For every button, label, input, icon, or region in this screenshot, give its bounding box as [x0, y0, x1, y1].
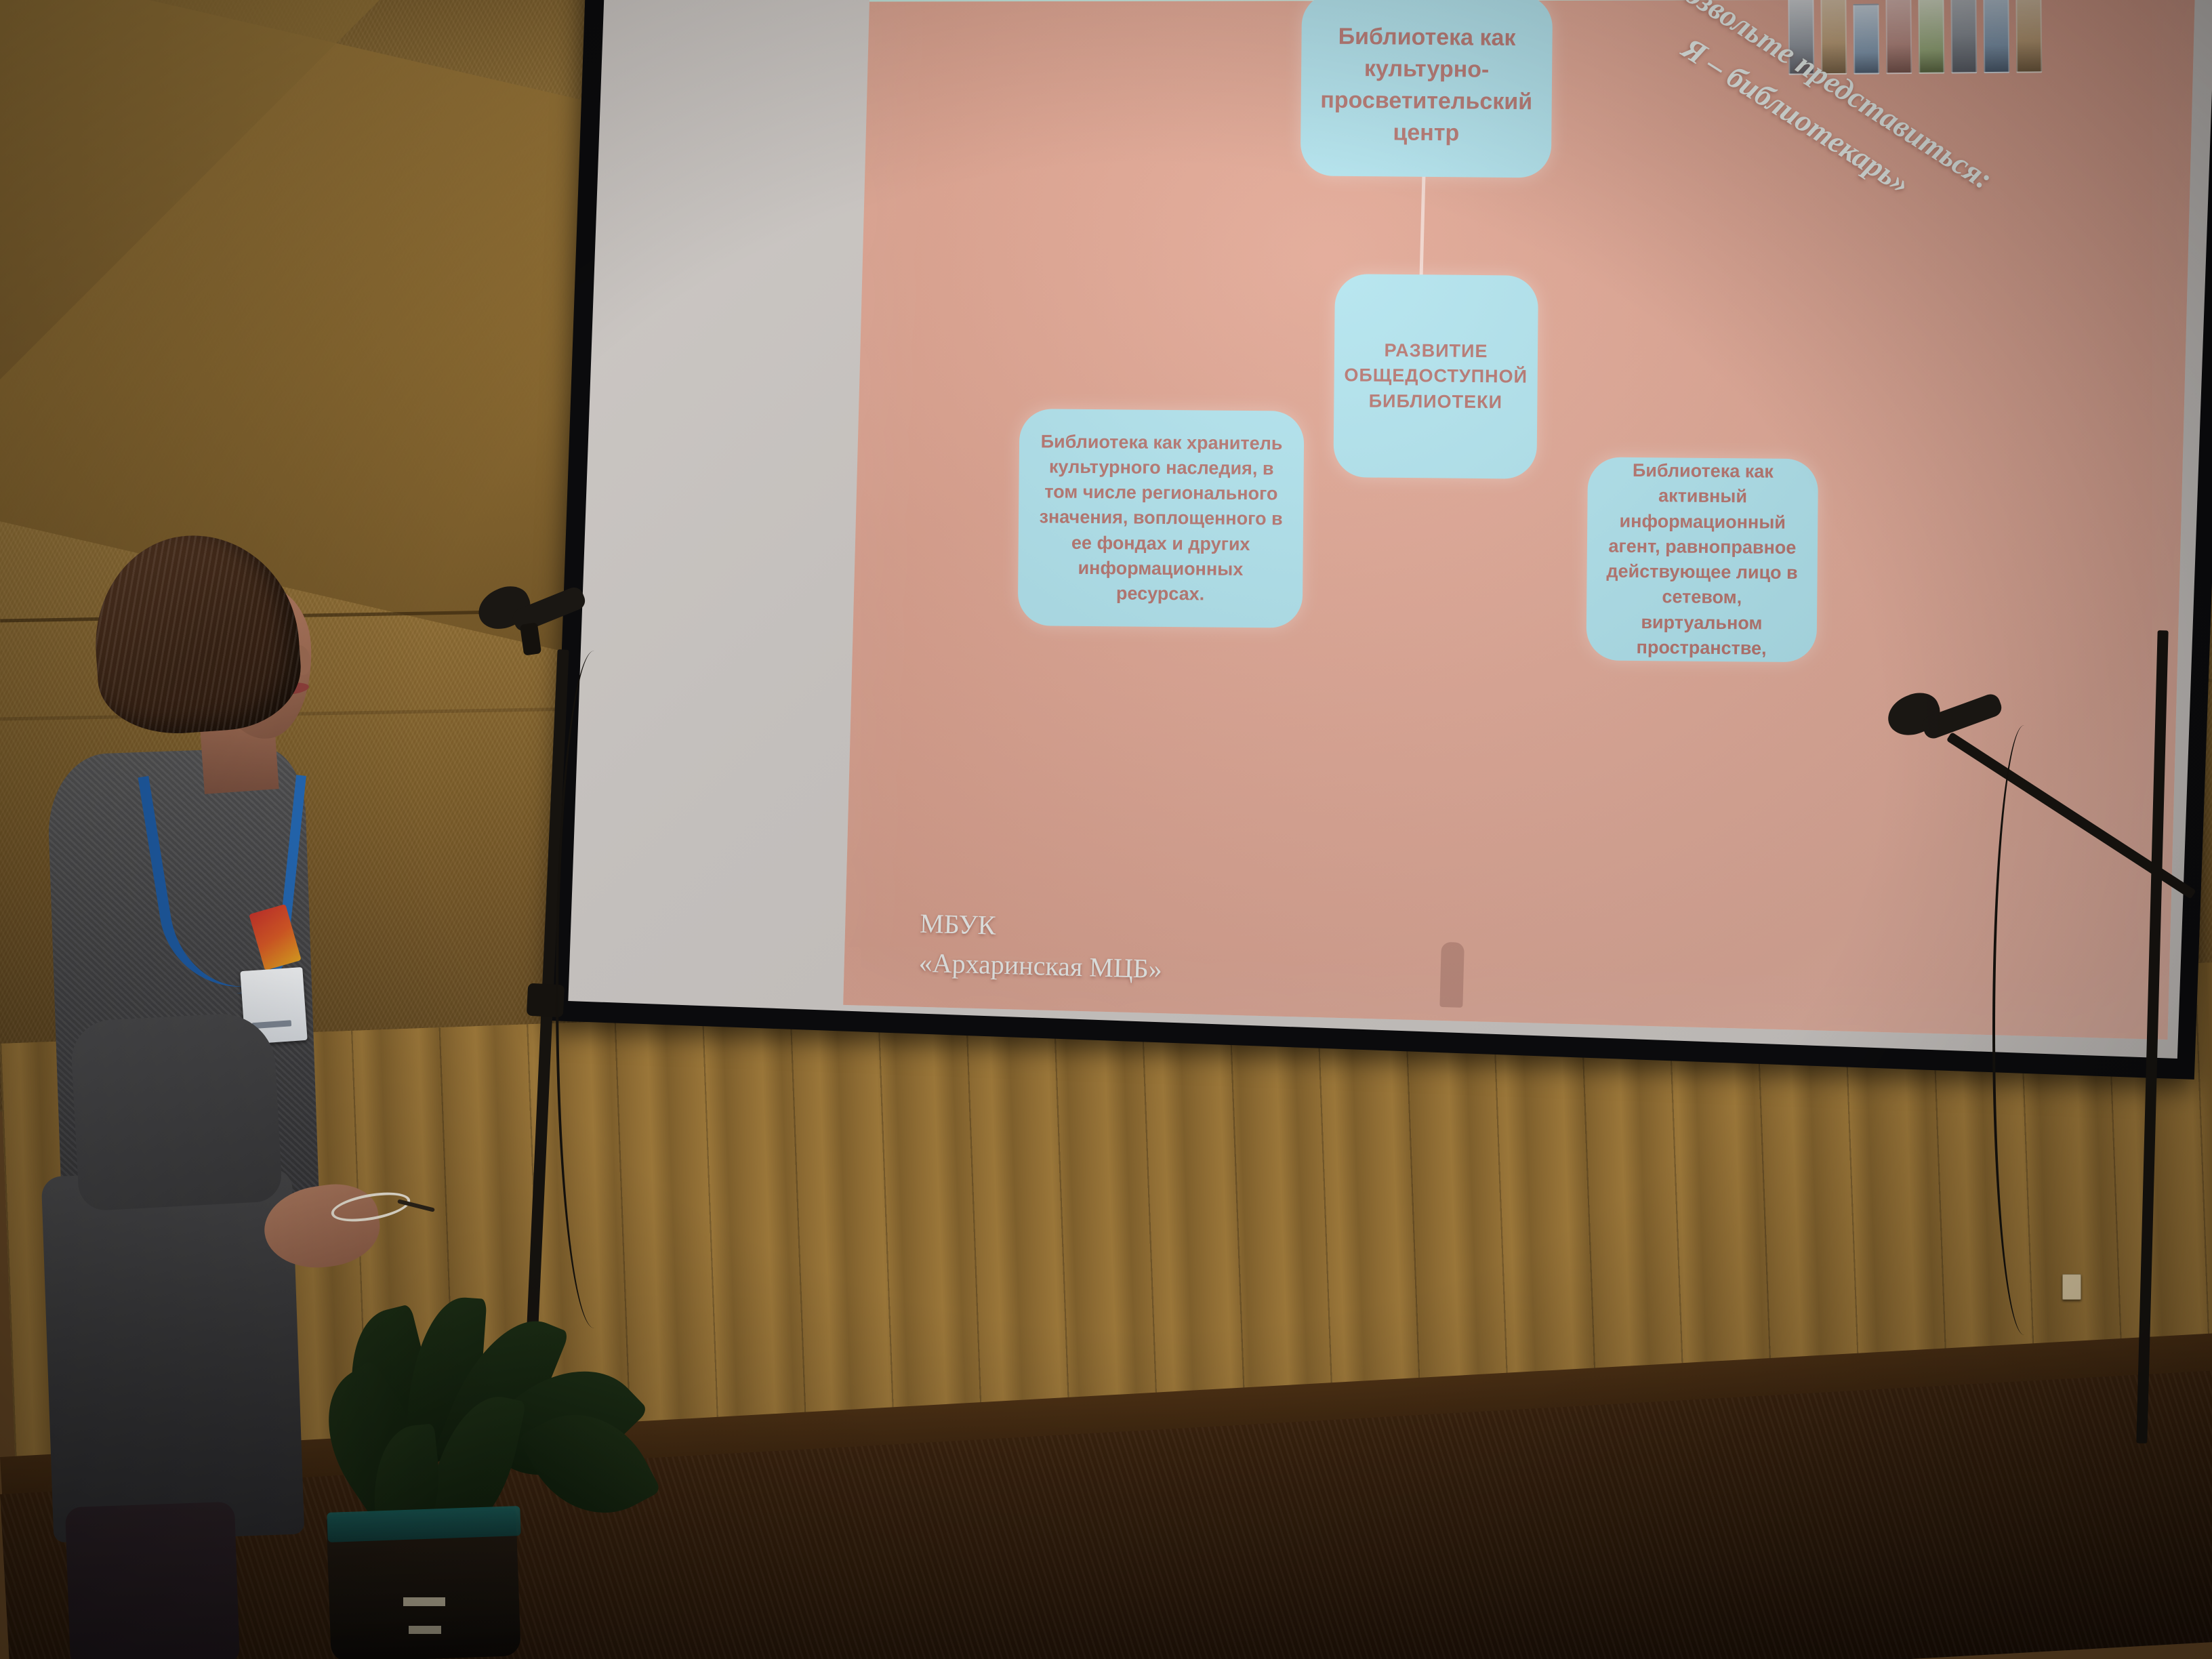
screen-surface: мои заслуги «Позвольте представиться: Я … — [568, 0, 2212, 1059]
flow-box-center: РАЗВИТИЕ ОБЩЕДОСТУПНОЙ БИБЛИОТЕКИ — [1333, 274, 1538, 479]
photograph-scene: мои заслуги «Позвольте представиться: Я … — [0, 0, 2212, 1659]
presenter-arm — [70, 1011, 283, 1211]
slide-footer-line-2: «Архаринская МЦБ» — [918, 943, 1162, 989]
projected-slide: мои заслуги «Позвольте представиться: Я … — [843, 0, 2196, 1040]
flow-box-left-label: Библиотека как хранитель культурного нас… — [1033, 429, 1289, 608]
slide-footer-line-1: МБУК — [920, 904, 1164, 949]
book-spine — [1983, 0, 2009, 73]
flow-box-top-label: Библиотека как культурно-просветительски… — [1315, 21, 1538, 150]
flow-box-right-label: Библиотека как активный информационный а… — [1601, 458, 1803, 662]
wall-socket-icon — [2062, 1274, 2081, 1300]
book-spine — [1918, 0, 1944, 74]
plant-pot-label — [403, 1597, 445, 1606]
presenter-legs — [65, 1502, 240, 1659]
flow-box-left: Библиотека как хранитель культурного нас… — [1018, 409, 1305, 628]
plant-pot-label-secondary — [409, 1626, 441, 1634]
microphone-cable-right — [1992, 725, 2056, 1335]
book-spine — [1853, 3, 1879, 74]
slide-footer: МБУК «Архаринская МЦБ» — [918, 904, 1164, 989]
flow-box-top: Библиотека как культурно-просветительски… — [1300, 0, 1553, 178]
projection-screen: мои заслуги «Позвольте представиться: Я … — [548, 0, 2212, 1080]
flow-box-center-label: РАЗВИТИЕ ОБЩЕДОСТУПНОЙ БИБЛИОТЕКИ — [1344, 337, 1528, 415]
book-spine — [2015, 0, 2042, 73]
book-spine — [1950, 0, 1977, 74]
book-spine — [1885, 0, 1912, 74]
presenter-hair — [88, 529, 304, 739]
flow-connector-line — [1419, 174, 1425, 279]
slide-silhouette-figure — [1439, 942, 1465, 1008]
flow-box-right: Библиотека как активный информационный а… — [1586, 457, 1818, 662]
microphone-cable-left — [556, 651, 633, 1328]
potted-plant — [308, 1291, 661, 1659]
